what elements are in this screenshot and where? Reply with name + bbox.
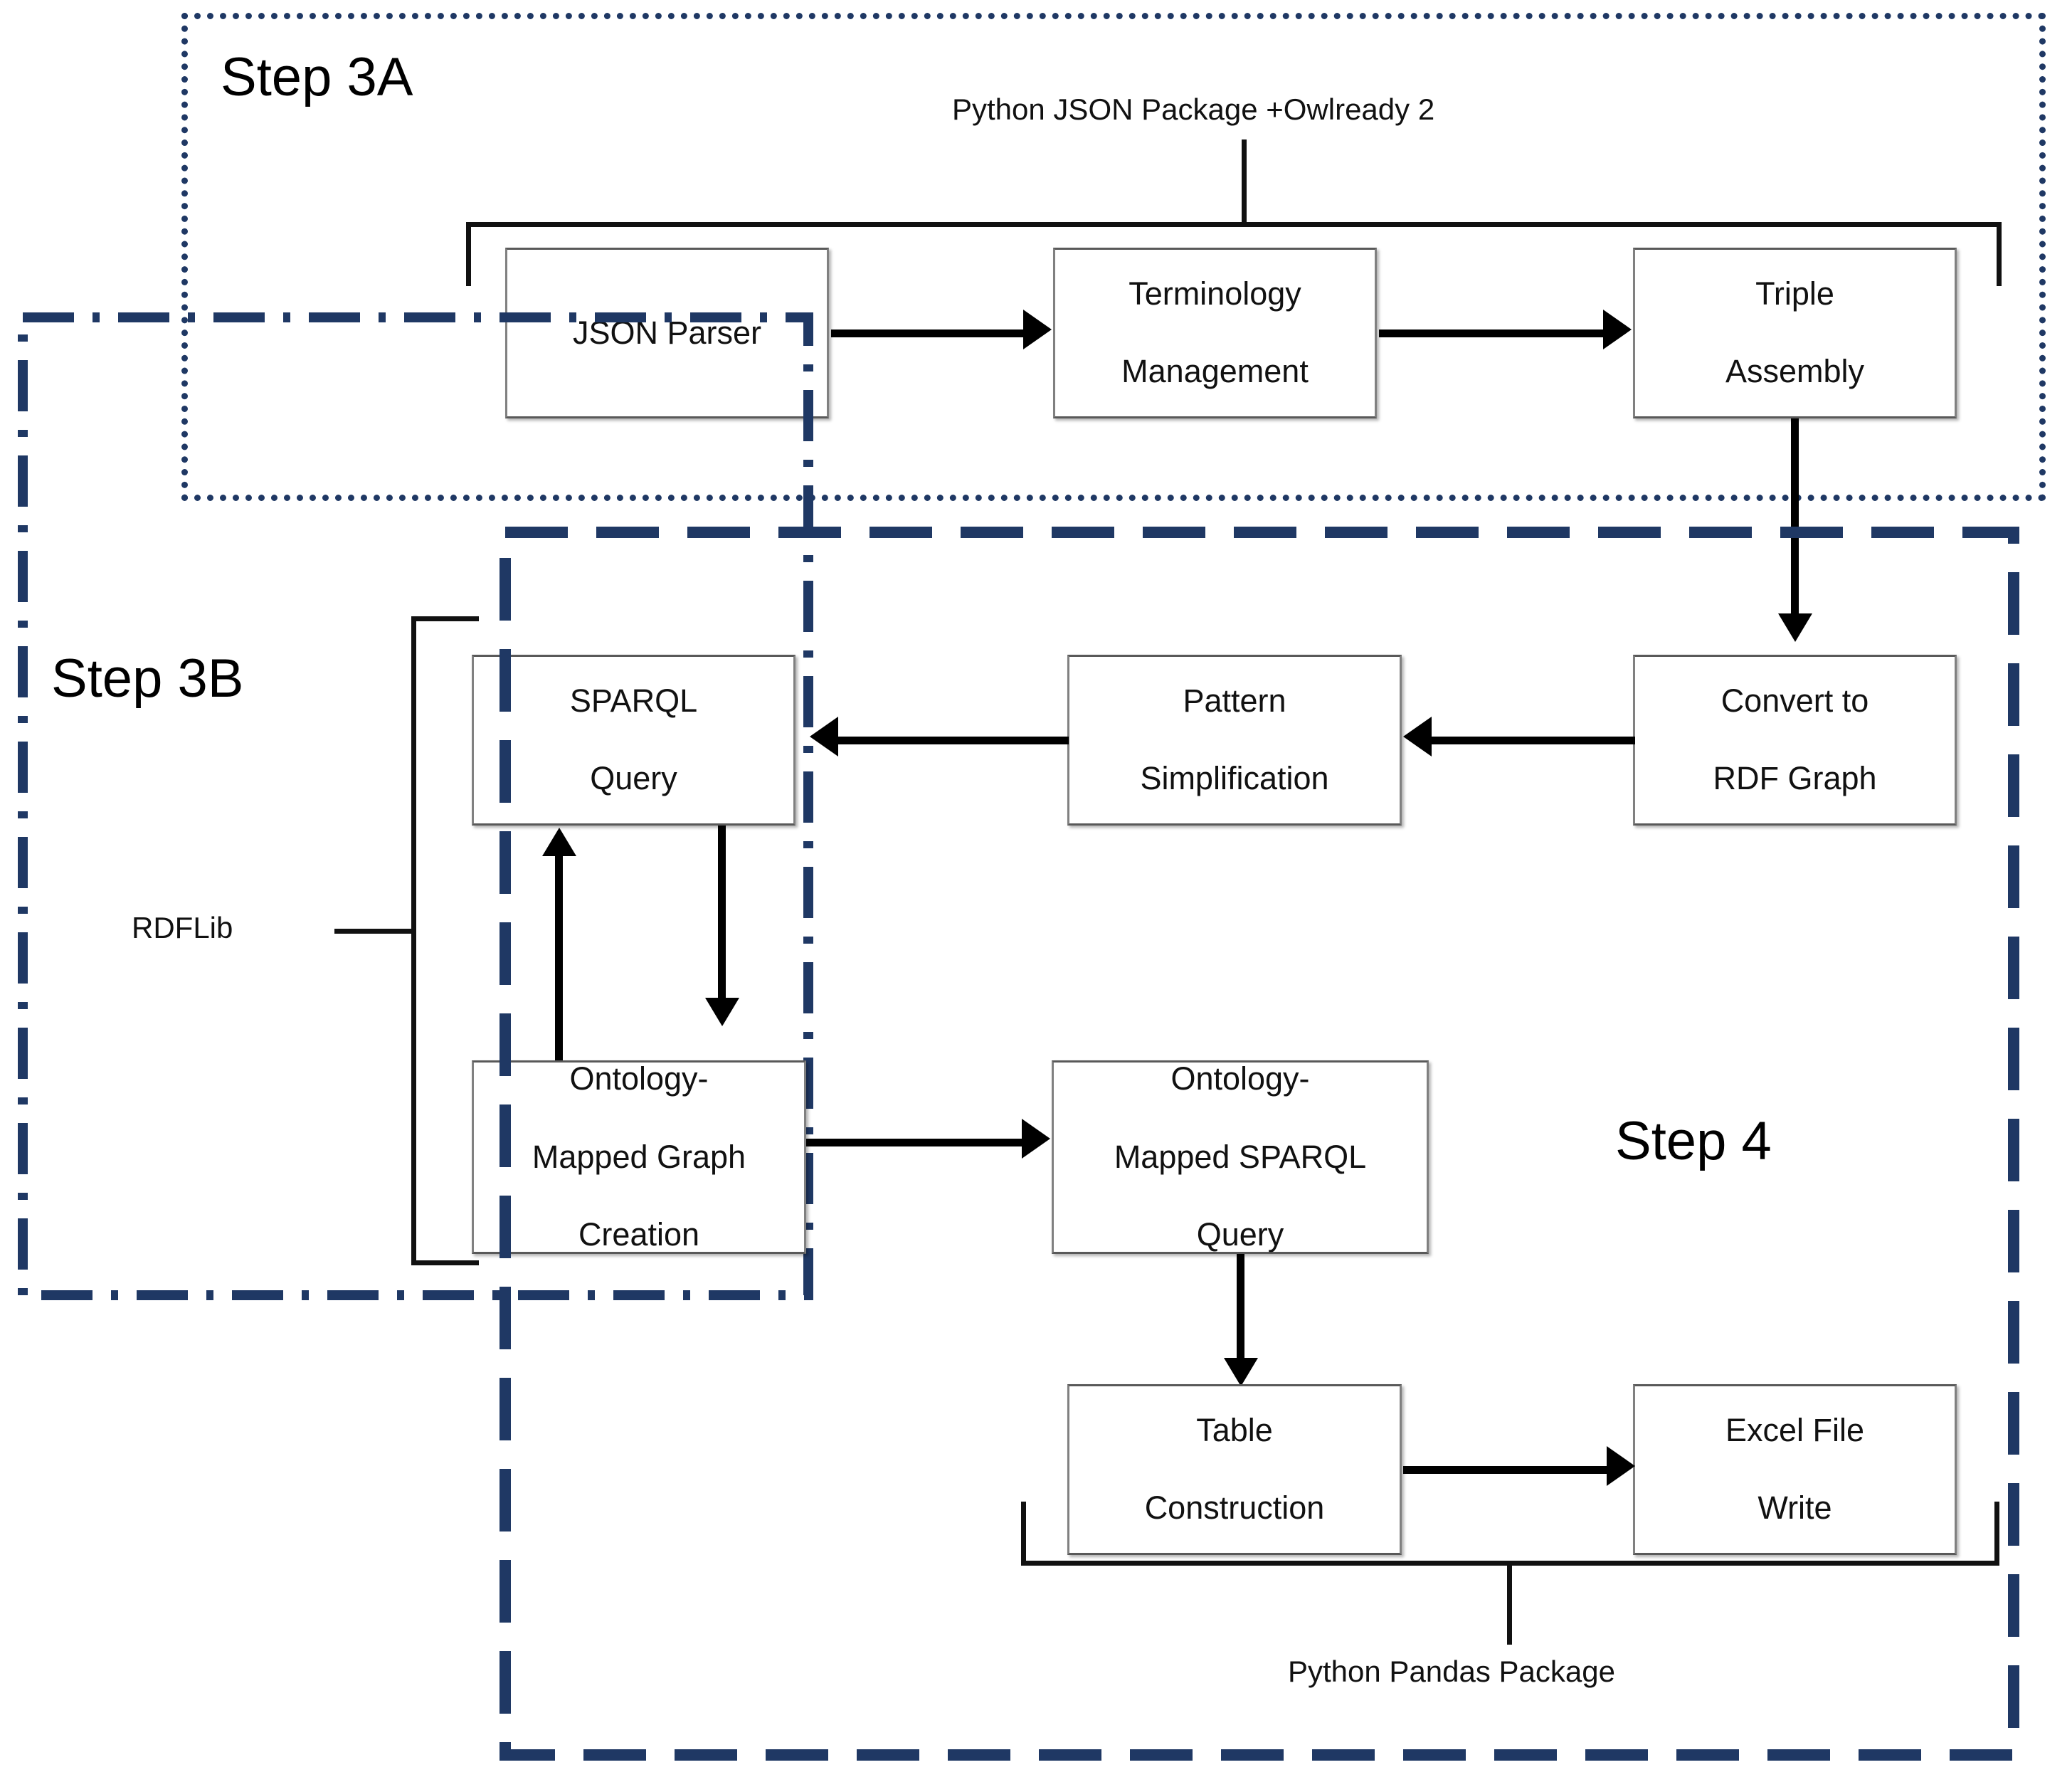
node-triple-assembly[interactable]: Triple Assembly <box>1633 248 1957 418</box>
node-terminology-line2: Management <box>1117 352 1313 391</box>
node-terminology-line1: Terminology <box>1117 275 1313 314</box>
node-pattern-line1: Pattern <box>1136 682 1333 721</box>
node-convert-line2: RDF Graph <box>1708 759 1881 798</box>
node-pattern-simplification[interactable]: Pattern Simplification <box>1067 655 1402 826</box>
edge-ontosparql-to-table-line <box>1237 1254 1244 1364</box>
edge-triple-to-convert-line <box>1791 418 1799 620</box>
edge-table-to-excel-arrowhead <box>1607 1446 1635 1486</box>
bracket-step-3b-bottom-tick <box>411 1260 479 1265</box>
leader-line-python-pandas <box>1507 1561 1512 1645</box>
bracket-step-4-left-tick <box>1021 1502 1026 1564</box>
node-ontograph-line2: Mapped Graph <box>528 1138 750 1177</box>
node-ontosparql-line2: Mapped SPARQL <box>1110 1138 1370 1177</box>
step-3b-title: Step 3B <box>51 648 243 710</box>
edge-ontosparql-to-table-arrowhead <box>1224 1358 1258 1386</box>
bracket-step-3b-vertical <box>411 616 416 1265</box>
edge-terminology-to-triple-line <box>1379 329 1605 337</box>
node-json-parser-line1: JSON Parser <box>569 314 766 353</box>
bracket-step-4-right-tick <box>1994 1502 1999 1564</box>
node-sparql-line1: SPARQL <box>566 682 702 721</box>
edge-json-to-terminology-line <box>831 329 1025 337</box>
node-json-parser[interactable]: JSON Parser <box>505 248 829 418</box>
edge-terminology-to-triple-arrowhead <box>1603 310 1632 349</box>
bracket-step-3a-left-tick <box>466 222 471 286</box>
node-table-line1: Table <box>1141 1411 1329 1450</box>
edge-triple-to-convert-arrowhead <box>1778 613 1812 642</box>
node-ontograph-line1: Ontology- <box>528 1060 750 1099</box>
note-rdflib: RDFLib <box>132 911 233 945</box>
leader-line-python-json <box>1242 139 1247 225</box>
edge-convert-to-pattern-line <box>1430 737 1635 744</box>
edge-pattern-to-sparql-arrowhead <box>810 717 838 756</box>
edge-ontograph-to-sparql-arrowhead <box>542 828 576 856</box>
bracket-step-3a-right-tick <box>1997 222 2002 286</box>
edge-json-to-terminology-arrowhead <box>1023 310 1052 349</box>
step-4-title: Step 4 <box>1615 1110 1772 1172</box>
edge-sparql-to-ontograph-arrowhead <box>705 998 739 1026</box>
node-pattern-line2: Simplification <box>1136 759 1333 798</box>
node-triple-line1: Triple <box>1721 275 1868 314</box>
note-python-pandas: Python Pandas Package <box>1288 1655 1615 1689</box>
node-excel-file-write[interactable]: Excel File Write <box>1633 1384 1957 1555</box>
node-table-construction[interactable]: Table Construction <box>1067 1384 1402 1555</box>
node-excel-line1: Excel File <box>1721 1411 1868 1450</box>
node-triple-line2: Assembly <box>1721 352 1868 391</box>
node-ontograph-line3: Creation <box>528 1216 750 1255</box>
node-ontology-mapped-graph-creation[interactable]: Ontology- Mapped Graph Creation <box>472 1060 806 1254</box>
edge-pattern-to-sparql-line <box>837 737 1069 744</box>
leader-line-rdflib <box>334 929 416 934</box>
node-ontosparql-line1: Ontology- <box>1110 1060 1370 1099</box>
node-convert-to-rdf-graph[interactable]: Convert to RDF Graph <box>1633 655 1957 826</box>
node-terminology-management[interactable]: Terminology Management <box>1053 248 1377 418</box>
flowchart-canvas: Step 3A Python JSON Package +Owlready 2 … <box>0 0 2072 1782</box>
step-3a-title: Step 3A <box>221 46 413 108</box>
edge-convert-to-pattern-arrowhead <box>1403 717 1432 756</box>
edge-ontograph-to-sparql-line <box>555 854 563 1075</box>
edge-ontograph-to-ontosparql-arrowhead <box>1022 1119 1050 1159</box>
edge-table-to-excel-line <box>1403 1466 1609 1474</box>
bracket-step-3a-top <box>466 222 2002 227</box>
node-ontosparql-line3: Query <box>1110 1216 1370 1255</box>
node-ontology-mapped-sparql-query[interactable]: Ontology- Mapped SPARQL Query <box>1052 1060 1429 1254</box>
edge-ontograph-to-ontosparql-line <box>806 1139 1023 1146</box>
node-sparql-line2: Query <box>566 759 702 798</box>
node-excel-line2: Write <box>1721 1489 1868 1528</box>
bracket-step-3b-top-tick <box>411 616 479 621</box>
edge-sparql-to-ontograph-line <box>718 826 726 1003</box>
node-table-line2: Construction <box>1141 1489 1329 1528</box>
node-sparql-query[interactable]: SPARQL Query <box>472 655 795 826</box>
node-convert-line1: Convert to <box>1708 682 1881 721</box>
note-python-json-owlready: Python JSON Package +Owlready 2 <box>952 93 1434 127</box>
